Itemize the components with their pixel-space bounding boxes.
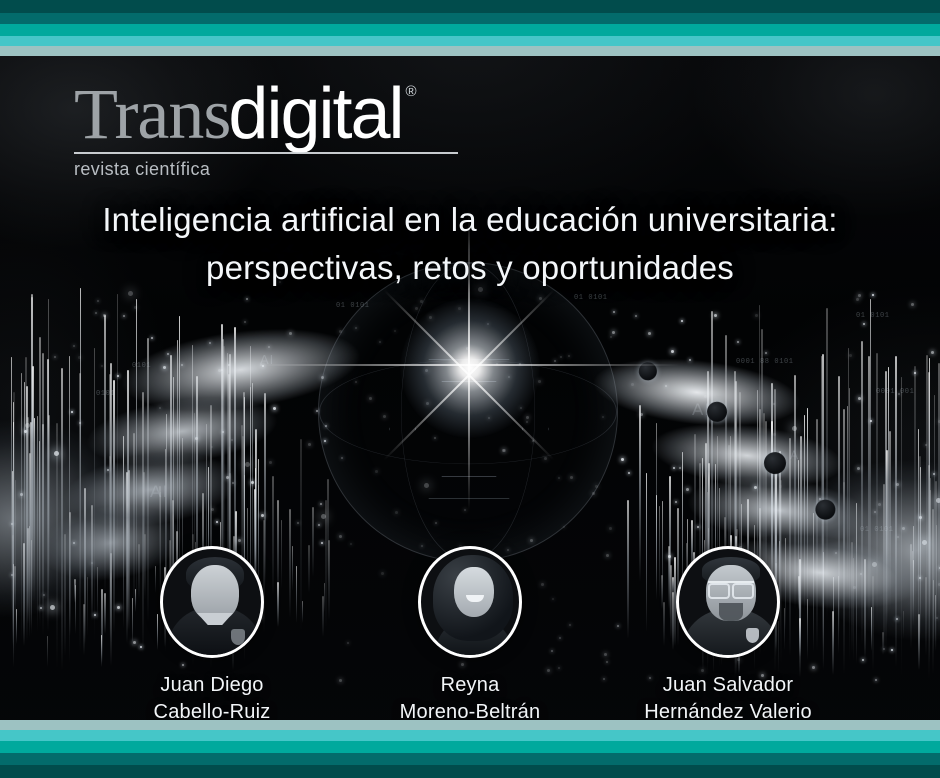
stripe-1: [0, 0, 940, 13]
avatar: [676, 546, 780, 658]
logo-divider: [74, 152, 458, 154]
stripe-5: [0, 46, 940, 56]
logo-trans-text: Trans: [74, 78, 230, 150]
avatar: [160, 546, 264, 658]
stripe-4: [0, 753, 940, 765]
stripe-1: [0, 720, 940, 730]
top-stripe-band: [0, 0, 940, 56]
author-card[interactable]: Juan Salvador Hernández Valerio: [599, 546, 857, 726]
journal-cover-poster: 01 0101010101 01010001 88 010101 0101010…: [0, 0, 940, 778]
authors-row: Juan Diego Cabello-Ruiz Reyna Moreno-Bel…: [0, 546, 940, 726]
author-name: Reyna Moreno-Beltrán: [400, 672, 541, 726]
avatar: [418, 546, 522, 658]
stripe-2: [0, 13, 940, 24]
journal-logo[interactable]: Trans digital ® revista científica: [74, 78, 458, 180]
author-card[interactable]: Juan Diego Cabello-Ruiz: [83, 546, 341, 726]
logo-digital-text: digital: [228, 78, 402, 150]
stripe-2: [0, 730, 940, 741]
stripe-5: [0, 765, 940, 778]
author-card[interactable]: Reyna Moreno-Beltrán: [341, 546, 599, 726]
light-ray-horizontal: [260, 364, 680, 366]
portrait-image: [421, 549, 519, 655]
robot-knuckle: [814, 499, 836, 521]
article-title: Inteligencia artificial en la educación …: [0, 196, 940, 292]
logo-wordmark: Trans digital ®: [74, 78, 458, 150]
logo-tagline: revista científica: [74, 159, 458, 180]
robot-knuckle: [706, 401, 728, 423]
portrait-image: [679, 549, 777, 655]
stripe-3: [0, 741, 940, 753]
registered-mark-icon: ®: [406, 84, 417, 99]
portrait-image: [163, 549, 261, 655]
stripe-4: [0, 36, 940, 46]
author-name: Juan Diego Cabello-Ruiz: [154, 672, 271, 726]
robot-knuckle: [763, 451, 787, 475]
author-name: Juan Salvador Hernández Valerio: [644, 672, 812, 726]
light-burst: [400, 298, 540, 438]
bottom-stripe-band: [0, 720, 940, 778]
stripe-3: [0, 24, 940, 36]
